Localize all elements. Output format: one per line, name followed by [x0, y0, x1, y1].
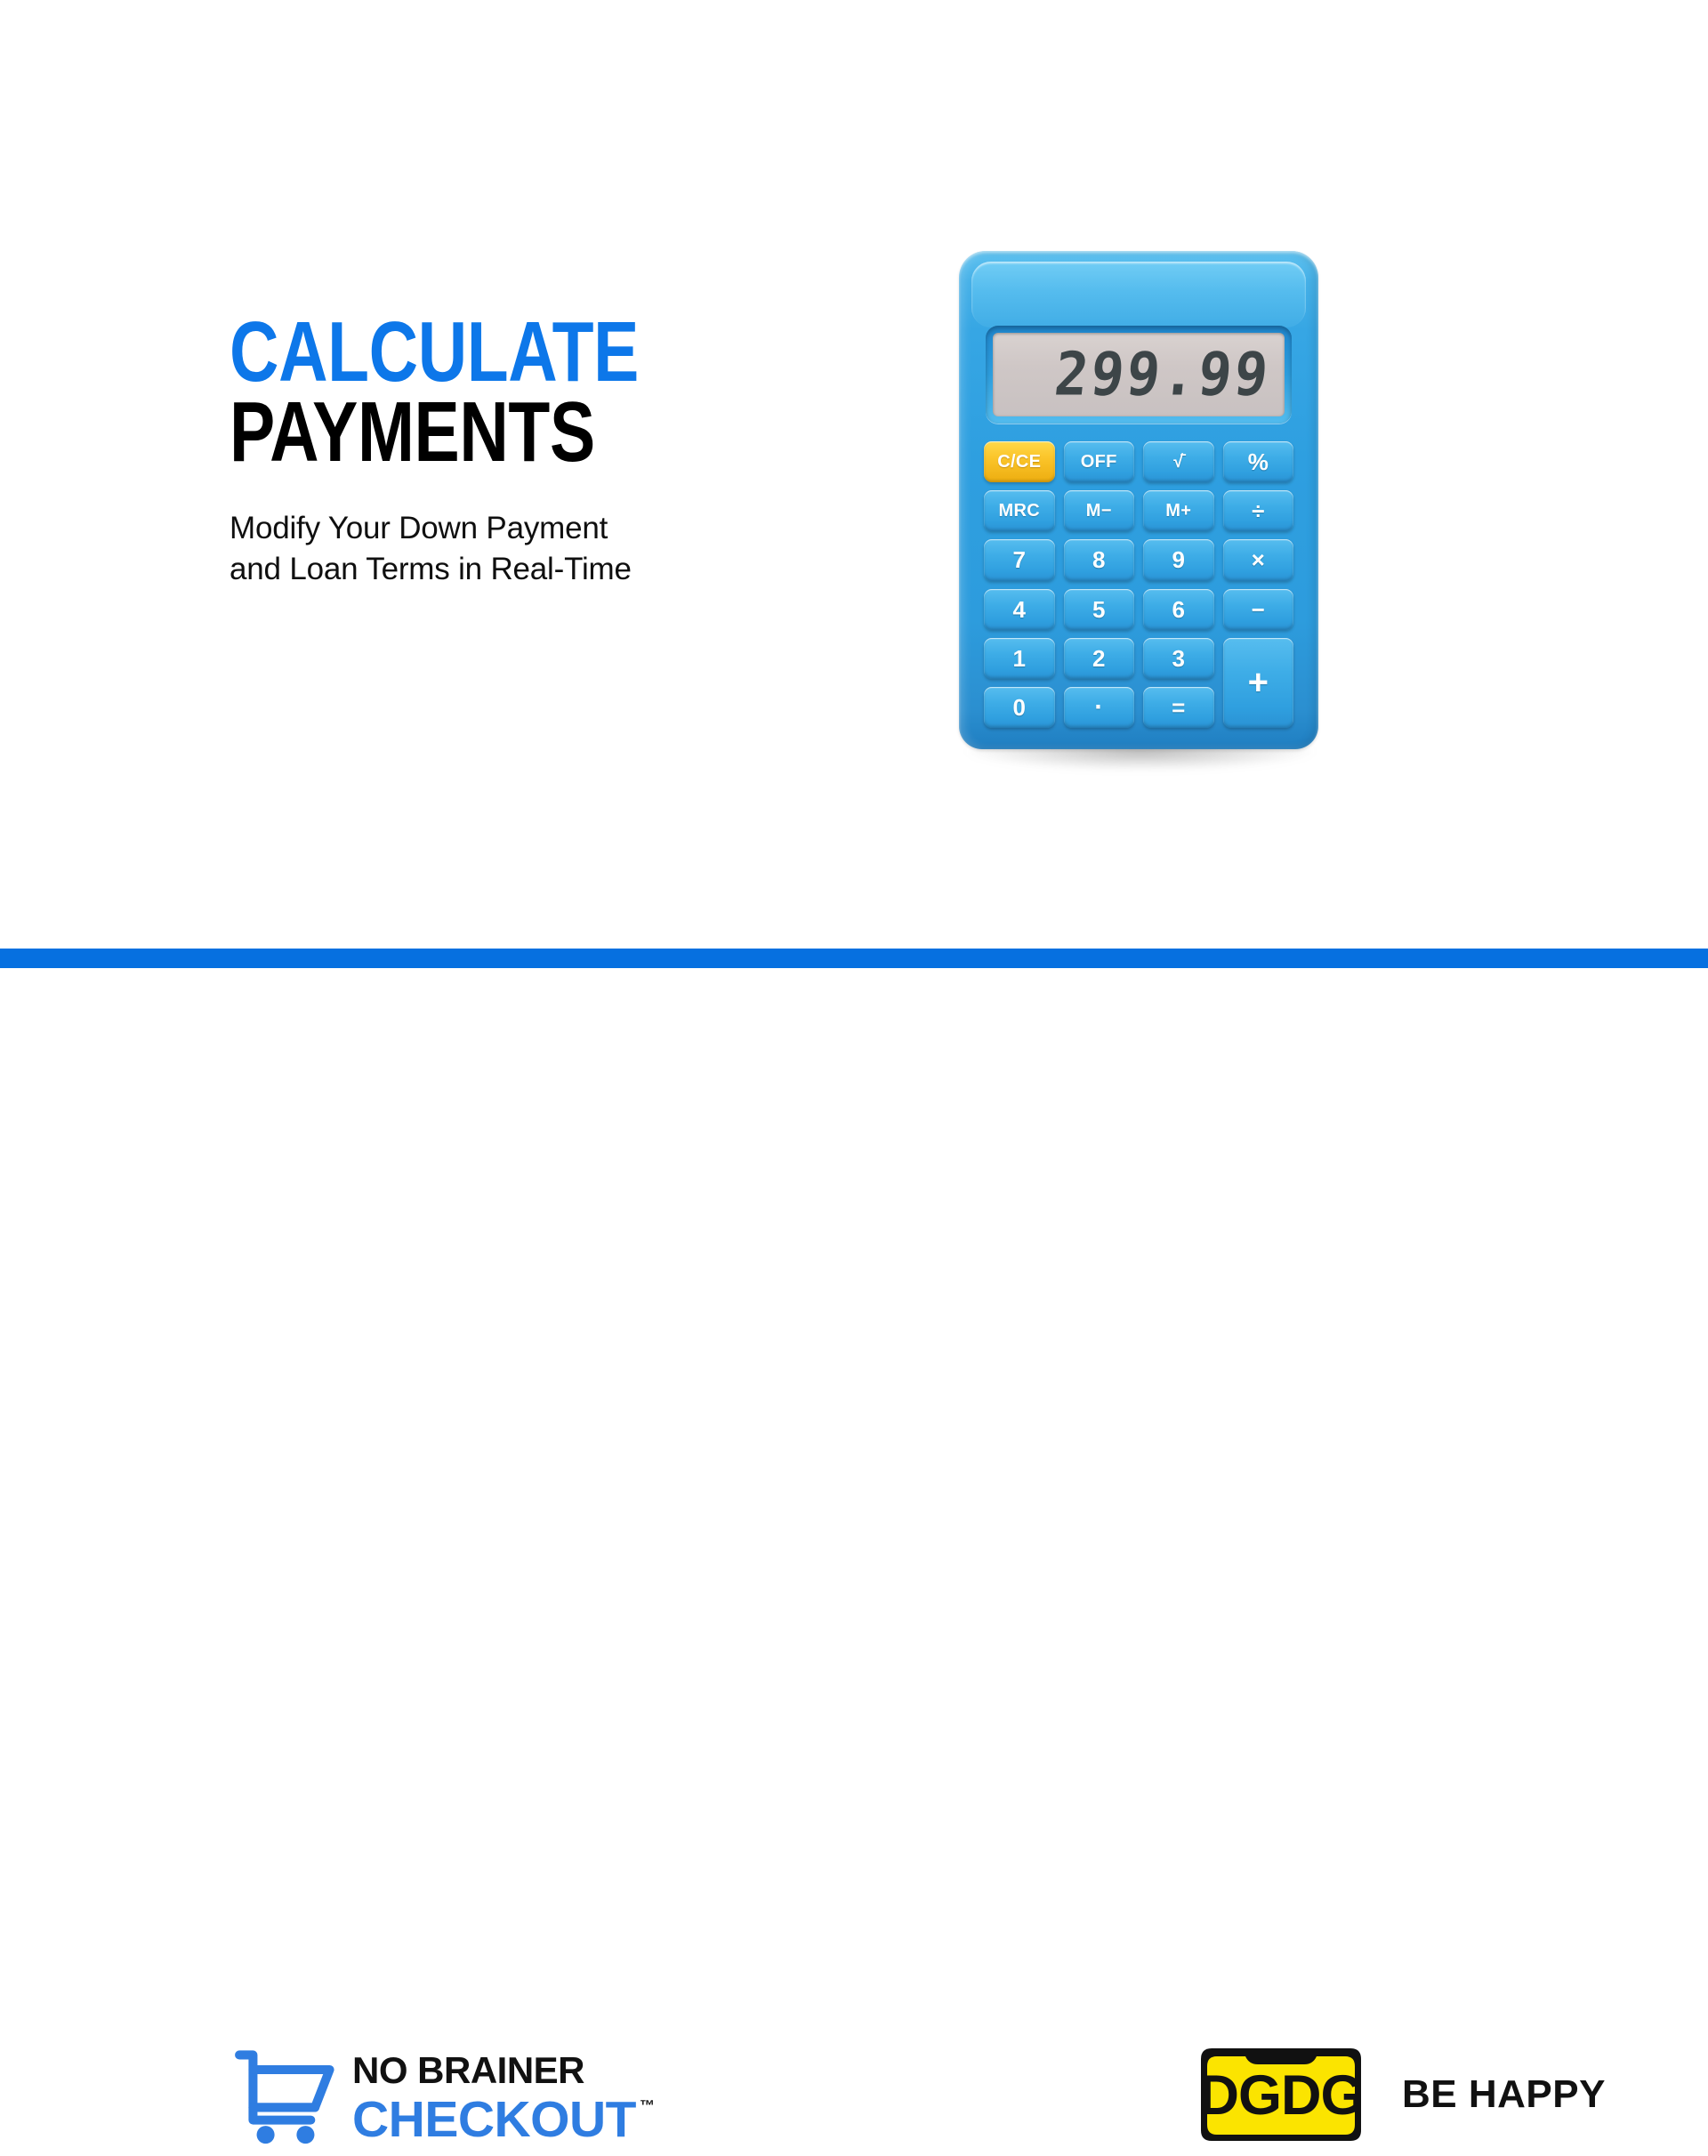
hero-copy-block: CALCULATE PAYMENTS Modify Your Down Paym…	[230, 313, 817, 590]
calc-key-equals[interactable]: =	[1143, 687, 1214, 728]
calc-key-memory-plus[interactable]: M+	[1143, 490, 1214, 531]
calc-key-off[interactable]: OFF	[1064, 441, 1135, 482]
calc-key-percent[interactable]: %	[1223, 441, 1294, 482]
calc-key-digit-1[interactable]: 1	[984, 638, 1055, 679]
dgdg-logo[interactable]: DGDG BE HAPPY	[1196, 2047, 1606, 2143]
calc-key-digit-0[interactable]: 0	[984, 687, 1055, 728]
hero-subheadline: Modify Your Down Payment and Loan Terms …	[230, 508, 817, 590]
logo-line-checkout-row: CHECKOUT ™	[352, 2095, 655, 2145]
calc-key-digit-6[interactable]: 6	[1143, 589, 1214, 630]
calculator-display-bezel: 299.99	[986, 326, 1292, 424]
calculator-lcd-screen: 299.99	[993, 333, 1285, 416]
dgdg-tagline: BE HAPPY	[1402, 2075, 1606, 2114]
calc-key-square-root[interactable]: √̄	[1143, 441, 1214, 482]
calc-key-digit-7[interactable]: 7	[984, 539, 1055, 580]
calc-key-minus[interactable]: −	[1223, 589, 1294, 630]
calc-key-digit-4[interactable]: 4	[984, 589, 1055, 630]
calc-key-digit-5[interactable]: 5	[1064, 589, 1135, 630]
hero-section: CALCULATE PAYMENTS Modify Your Down Paym…	[0, 0, 1708, 949]
calculator-illustration: 299.99 C/CEOFF√̄%MRCM−M+÷789×456−123+0·=	[959, 251, 1318, 760]
calc-key-divide[interactable]: ÷	[1223, 490, 1294, 531]
shopping-cart-icon	[233, 2047, 338, 2152]
svg-text:DGDG: DGDG	[1199, 2064, 1364, 2127]
no-brainer-checkout-logo[interactable]: NO BRAINER CHECKOUT ™	[233, 2045, 655, 2152]
trademark-symbol: ™	[640, 2098, 655, 2113]
calc-key-digit-3[interactable]: 3	[1143, 638, 1214, 679]
calculator-top-ridge	[971, 262, 1306, 327]
calculator-body: 299.99 C/CEOFF√̄%MRCM−M+÷789×456−123+0·=	[959, 251, 1318, 749]
calc-key-digit-2[interactable]: 2	[1064, 638, 1135, 679]
calc-key-decimal-point[interactable]: ·	[1064, 687, 1135, 728]
calc-key-digit-8[interactable]: 8	[1064, 539, 1135, 580]
calc-key-multiply[interactable]: ×	[1223, 539, 1294, 580]
calc-key-memory-minus[interactable]: M−	[1064, 490, 1135, 531]
dgdg-badge: DGDG	[1196, 2047, 1366, 2143]
section-divider-bar	[0, 949, 1708, 968]
logo-line-checkout: CHECKOUT	[352, 2095, 636, 2145]
calc-key-clear-entry[interactable]: C/CE	[984, 441, 1055, 482]
calc-key-plus[interactable]: +	[1223, 638, 1294, 728]
calc-key-digit-9[interactable]: 9	[1143, 539, 1214, 580]
logo-line-no-brainer: NO BRAINER	[352, 2049, 584, 2091]
calc-key-memory-recall-clear[interactable]: MRC	[984, 490, 1055, 531]
footer-section: NO BRAINER CHECKOUT ™ DGDG BE HAPPY	[0, 968, 1708, 1281]
no-brainer-checkout-wordmark: NO BRAINER CHECKOUT ™	[352, 2045, 655, 2145]
calculator-keypad[interactable]: C/CEOFF√̄%MRCM−M+÷789×456−123+0·=	[984, 441, 1293, 728]
hero-subheadline-line-1: Modify Your Down Payment	[230, 508, 817, 549]
page-title-accent: CALCULATE	[230, 313, 699, 392]
calculator-display-value: 299.99	[1052, 345, 1274, 405]
page-title: PAYMENTS	[230, 393, 699, 472]
hero-subheadline-line-2: and Loan Terms in Real-Time	[230, 549, 817, 590]
